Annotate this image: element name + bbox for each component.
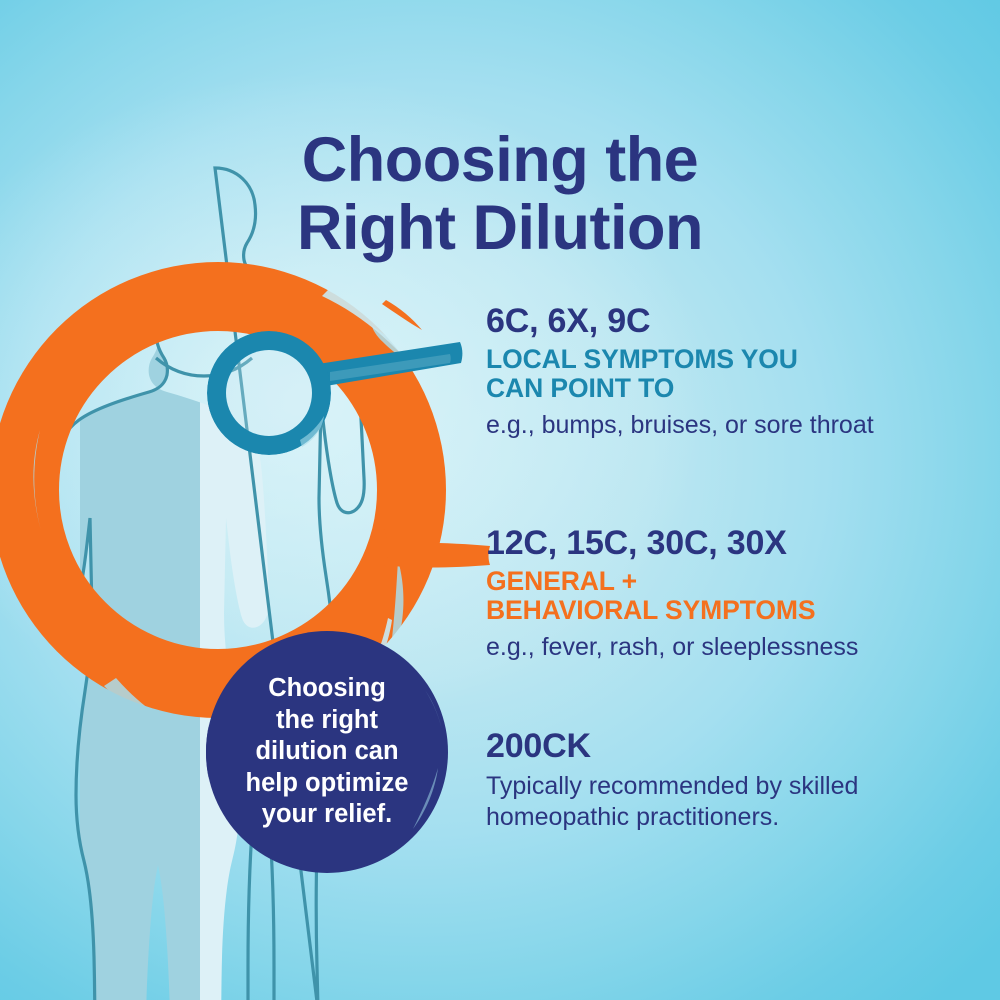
block-subheading-line-1: GENERAL + (486, 567, 986, 596)
dilution-block-200ck: 200CK Typically recommended by skilled h… (486, 728, 986, 834)
block-heading: 6C, 6X, 9C (486, 303, 986, 340)
block-body-line-1: Typically recommended by skilled (486, 771, 986, 803)
badge-line-2: the right (276, 705, 378, 737)
block-body-line-1: e.g., bumps, bruises, or sore throat (486, 410, 986, 442)
infographic-canvas: Choosing the Right Dilution Choosing the… (0, 0, 1000, 1000)
badge-line-4: help optimize (246, 768, 409, 800)
block-subheading-line-2: BEHAVIORAL SYMPTOMS (486, 596, 986, 625)
badge-line-1: Choosing (268, 673, 386, 705)
block-heading: 200CK (486, 728, 986, 765)
block-body: e.g., bumps, bruises, or sore throat (486, 410, 986, 442)
block-heading: 12C, 15C, 30C, 30X (486, 525, 986, 562)
badge-line-5: your relief. (262, 799, 392, 831)
block-subheading-line-1: LOCAL SYMPTOMS YOU (486, 345, 986, 374)
badge-line-3: dilution can (255, 736, 398, 768)
title-line-2: Right Dilution (0, 194, 1000, 262)
block-body: Typically recommended by skilled homeopa… (486, 771, 986, 834)
orange-ring-brush-tail (382, 300, 422, 330)
title-line-1: Choosing the (0, 126, 1000, 194)
block-body: e.g., fever, rash, or sleeplessness (486, 632, 986, 664)
dilution-block-12c-15c-30c-30x: 12C, 15C, 30C, 30X GENERAL + BEHAVIORAL … (486, 525, 986, 664)
block-body-line-1: e.g., fever, rash, or sleeplessness (486, 632, 986, 664)
page-title: Choosing the Right Dilution (0, 126, 1000, 262)
dilution-block-6c-6x-9c: 6C, 6X, 9C LOCAL SYMPTOMS YOU CAN POINT … (486, 303, 986, 442)
navy-badge: Choosing the right dilution can help opt… (203, 628, 451, 876)
block-subheading: LOCAL SYMPTOMS YOU CAN POINT TO (486, 345, 986, 403)
block-subheading-line-2: CAN POINT TO (486, 374, 986, 403)
block-body-line-2: homeopathic practitioners. (486, 802, 986, 834)
block-subheading: GENERAL + BEHAVIORAL SYMPTOMS (486, 567, 986, 625)
badge-text: Choosing the right dilution can help opt… (203, 628, 451, 876)
